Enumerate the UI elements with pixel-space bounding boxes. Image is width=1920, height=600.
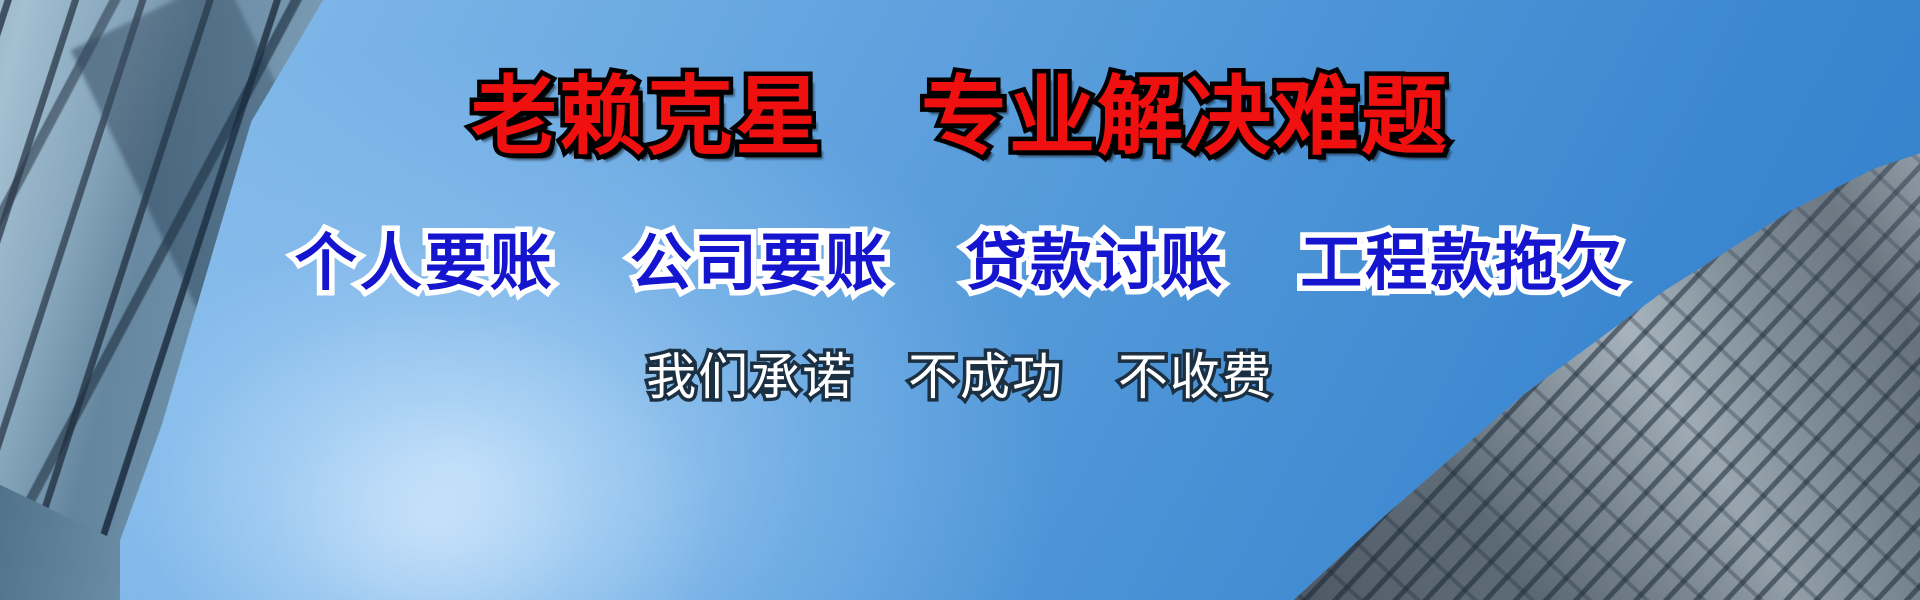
promo-banner: 老赖克星 专业解决难题 个人要账 公司要账 贷款讨账 工程款拖欠 我们承诺 不成… [0, 0, 1920, 600]
service-item-personal-debt: 个人要账 [295, 226, 555, 299]
headline-segment-2: 专业解决难题 [921, 67, 1449, 167]
promise-segment-1: 我们承诺 [646, 348, 854, 406]
promise-segment-3: 不收费 [1118, 348, 1274, 406]
banner-headline: 老赖克星 专业解决难题 [0, 74, 1920, 160]
service-item-project-arrears: 工程款拖欠 [1300, 226, 1625, 299]
headline-segment-1: 老赖克星 [471, 67, 823, 167]
service-item-company-debt: 公司要账 [630, 226, 890, 299]
banner-promise-line: 我们承诺 不成功 不收费 [0, 352, 1920, 402]
service-item-loan-debt: 贷款讨账 [965, 226, 1225, 299]
promise-segment-2: 不成功 [908, 348, 1064, 406]
banner-text-block: 老赖克星 专业解决难题 个人要账 公司要账 贷款讨账 工程款拖欠 我们承诺 不成… [0, 0, 1920, 600]
banner-services-line: 个人要账 公司要账 贷款讨账 工程款拖欠 [0, 232, 1920, 294]
